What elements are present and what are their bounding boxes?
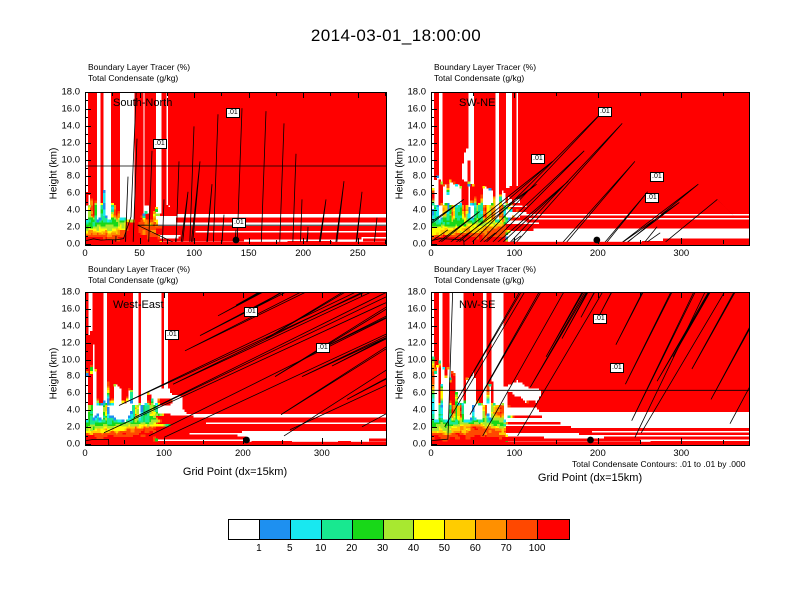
- colorbar-cell: [476, 520, 507, 539]
- x-tick-label: 200: [235, 448, 251, 459]
- x-tick-minor-top: [303, 92, 304, 96]
- y-tick-mark: [431, 176, 437, 177]
- y-tick-label: 2.0: [49, 422, 80, 433]
- x-tick-minor-top: [681, 92, 682, 96]
- y-tick-minor: [431, 317, 434, 318]
- y-tick-minor: [85, 202, 88, 203]
- x-tick-minor-top: [431, 292, 432, 296]
- y-tick-label: 14.0: [49, 320, 80, 331]
- y-tick-minor: [431, 300, 434, 301]
- header-line2: Total Condensate (g/kg): [88, 275, 190, 286]
- y-tick-mark: [431, 227, 437, 228]
- x-tick-minor: [124, 440, 125, 444]
- y-tick-label: 8.0: [395, 171, 426, 182]
- y-tick-minor: [85, 334, 88, 335]
- y-tick-minor: [431, 202, 434, 203]
- y-tick-label: 10.0: [395, 354, 426, 365]
- y-tick-mark: [431, 444, 437, 445]
- y-tick-mark: [85, 410, 91, 411]
- y-tick-minor: [431, 385, 434, 386]
- panel-title-2: SW-NE: [459, 97, 495, 109]
- header-line1: Boundary Layer Tracer (%): [88, 62, 190, 72]
- panel-header-3: Boundary Layer Tracer (%) Total Condensa…: [88, 264, 190, 285]
- x-tick-minor: [681, 440, 682, 444]
- x-tick-minor-top: [556, 292, 557, 296]
- x-tick-minor-top: [194, 92, 195, 96]
- tracer-field: [86, 293, 386, 445]
- x-tick-minor-top: [85, 92, 86, 96]
- header-line2: Total Condensate (g/kg): [88, 73, 190, 84]
- x-tick-minor-top: [681, 292, 682, 296]
- plot-area-3[interactable]: [85, 292, 387, 446]
- x-tick-label: 100: [506, 248, 522, 259]
- x-tick-minor-top: [203, 292, 204, 296]
- y-tick-label: 14.0: [395, 120, 426, 131]
- y-tick-label: 4.0: [49, 405, 80, 416]
- y-tick-label: 4.0: [49, 205, 80, 216]
- x-tick-minor-top: [243, 292, 244, 296]
- y-tick-label: 10.0: [395, 154, 426, 165]
- x-tick-minor: [330, 240, 331, 244]
- y-tick-label: 6.0: [49, 388, 80, 399]
- y-tick-mark: [85, 160, 91, 161]
- x-tick-minor: [385, 240, 386, 244]
- panel-header-4: Boundary Layer Tracer (%) Total Condensa…: [434, 264, 536, 285]
- y-tick-label: 16.0: [395, 103, 426, 114]
- contour-value-label: .01: [165, 330, 179, 340]
- x-tick-minor-top: [598, 292, 599, 296]
- colorbar-tick-label: 70: [501, 543, 512, 554]
- y-tick-minor: [431, 334, 434, 335]
- colorbar-tick-label: 60: [470, 543, 481, 554]
- y-tick-label: 8.0: [395, 371, 426, 382]
- panel-header-2: Boundary Layer Tracer (%) Total Condensa…: [434, 62, 536, 83]
- y-tick-mark: [431, 427, 437, 428]
- y-tick-label: 18.0: [395, 87, 426, 98]
- x-tick-minor-top: [164, 292, 165, 296]
- y-tick-minor: [431, 351, 434, 352]
- x-tick-minor: [431, 240, 432, 244]
- colorbar-cell: [445, 520, 476, 539]
- y-tick-minor: [431, 219, 434, 220]
- y-tick-mark: [85, 176, 91, 177]
- x-tick-minor-top: [85, 292, 86, 296]
- x-tick-minor: [164, 440, 165, 444]
- contour-value-label: .01: [316, 343, 330, 353]
- x-tick-minor: [514, 240, 515, 244]
- y-tick-label: 2.0: [395, 422, 426, 433]
- y-tick-minor: [85, 385, 88, 386]
- y-tick-label: 6.0: [395, 188, 426, 199]
- y-tick-minor: [85, 117, 88, 118]
- colorbar-tick-label: 40: [408, 543, 419, 554]
- y-tick-label: 12.0: [49, 137, 80, 148]
- x-tick-minor: [282, 440, 283, 444]
- y-tick-mark: [85, 393, 91, 394]
- y-tick-label: 14.0: [49, 120, 80, 131]
- x-tick-minor-top: [431, 92, 432, 96]
- y-tick-minor: [431, 419, 434, 420]
- y-tick-minor: [431, 134, 434, 135]
- x-tick-minor-top: [556, 92, 557, 96]
- tracer-field: [432, 293, 749, 445]
- header-line2: Total Condensate (g/kg): [434, 275, 536, 286]
- y-tick-minor: [431, 236, 434, 237]
- contour-value-label: .01: [593, 314, 607, 324]
- y-tick-mark: [85, 244, 91, 245]
- colorbar-cell: [291, 520, 322, 539]
- contour-note: Total Condensate Contours: .01 to .01 by…: [572, 459, 745, 469]
- y-tick-label: 12.0: [395, 337, 426, 348]
- y-tick-mark: [431, 326, 437, 327]
- panel-header-1: Boundary Layer Tracer (%) Total Condensa…: [88, 62, 190, 83]
- header-line1: Boundary Layer Tracer (%): [88, 264, 190, 274]
- x-tick-minor: [640, 440, 641, 444]
- y-tick-minor: [85, 185, 88, 186]
- x-tick-minor: [473, 440, 474, 444]
- y-tick-label: 8.0: [49, 371, 80, 382]
- y-tick-minor: [431, 168, 434, 169]
- y-tick-mark: [85, 376, 91, 377]
- y-tick-label: 12.0: [395, 137, 426, 148]
- y-tick-mark: [431, 393, 437, 394]
- tracer-field: [432, 93, 749, 245]
- y-tick-mark: [85, 227, 91, 228]
- y-tick-label: 12.0: [49, 337, 80, 348]
- x-tick-minor: [598, 240, 599, 244]
- x-tick-minor: [514, 440, 515, 444]
- header-line2: Total Condensate (g/kg): [434, 73, 536, 84]
- x-tick-label: 300: [314, 448, 330, 459]
- colorbar-cell: [229, 520, 260, 539]
- figure-root: 2014-03-01_18:00:00 Boundary Layer Trace…: [0, 0, 792, 612]
- y-tick-mark: [431, 343, 437, 344]
- colorbar-tick-label: 20: [346, 543, 357, 554]
- y-tick-minor: [85, 402, 88, 403]
- y-tick-minor: [431, 436, 434, 437]
- x-tick-minor-top: [282, 292, 283, 296]
- y-tick-label: 0.0: [49, 439, 80, 450]
- y-tick-label: 0.0: [49, 239, 80, 250]
- y-tick-mark: [85, 193, 91, 194]
- y-tick-label: 10.0: [49, 354, 80, 365]
- x-tick-minor-top: [473, 292, 474, 296]
- y-tick-mark: [85, 343, 91, 344]
- x-axis-label-3: Grid Point (dx=15km): [183, 466, 287, 478]
- x-tick-minor-top: [276, 92, 277, 96]
- y-tick-label: 6.0: [49, 188, 80, 199]
- y-tick-mark: [431, 309, 437, 310]
- x-tick-minor: [361, 440, 362, 444]
- y-tick-minor: [85, 236, 88, 237]
- y-tick-label: 2.0: [395, 222, 426, 233]
- y-tick-label: 8.0: [49, 171, 80, 182]
- colorbar-cell: [414, 520, 445, 539]
- y-tick-minor: [85, 219, 88, 220]
- colorbar-tick-label: 100: [529, 543, 546, 554]
- panel-title-4: NW-SE: [459, 299, 495, 311]
- x-tick-minor: [203, 440, 204, 444]
- contour-value-label: .01: [650, 172, 664, 182]
- x-tick-minor: [276, 240, 277, 244]
- y-tick-mark: [431, 193, 437, 194]
- x-tick-label: 150: [241, 248, 257, 259]
- contour-value-label: .01: [153, 139, 167, 149]
- x-tick-minor-top: [723, 292, 724, 296]
- x-tick-minor-top: [249, 92, 250, 96]
- x-tick-minor-top: [358, 92, 359, 96]
- x-tick-minor: [358, 240, 359, 244]
- y-tick-minor: [85, 436, 88, 437]
- y-tick-label: 4.0: [395, 205, 426, 216]
- y-tick-label: 0.0: [395, 239, 426, 250]
- x-tick-minor: [243, 440, 244, 444]
- contour-value-label: .01: [244, 307, 258, 317]
- x-tick-minor: [249, 240, 250, 244]
- y-tick-mark: [85, 210, 91, 211]
- y-tick-minor: [85, 419, 88, 420]
- y-tick-mark: [85, 444, 91, 445]
- x-tick-minor-top: [221, 92, 222, 96]
- y-tick-mark: [85, 126, 91, 127]
- x-tick-label: 100: [156, 448, 172, 459]
- colorbar-tick-label: 5: [287, 543, 293, 554]
- y-tick-minor: [85, 317, 88, 318]
- x-tick-minor: [598, 440, 599, 444]
- x-tick-minor: [194, 240, 195, 244]
- y-tick-mark: [85, 427, 91, 428]
- y-tick-minor: [431, 117, 434, 118]
- y-tick-minor: [431, 185, 434, 186]
- colorbar-cell: [322, 520, 353, 539]
- y-tick-mark: [431, 210, 437, 211]
- x-tick-minor: [221, 240, 222, 244]
- x-tick-label: 200: [295, 248, 311, 259]
- y-tick-mark: [431, 143, 437, 144]
- header-line1: Boundary Layer Tracer (%): [434, 264, 536, 274]
- y-tick-minor: [85, 351, 88, 352]
- panel-title-3: West-East: [113, 299, 164, 311]
- header-line1: Boundary Layer Tracer (%): [434, 62, 536, 72]
- colorbar-cell: [260, 520, 291, 539]
- y-tick-label: 4.0: [395, 405, 426, 416]
- x-tick-minor: [85, 440, 86, 444]
- x-tick-minor-top: [514, 292, 515, 296]
- y-tick-label: 0.0: [395, 439, 426, 450]
- y-tick-mark: [85, 109, 91, 110]
- colorbar-cell: [507, 520, 538, 539]
- y-tick-minor: [85, 168, 88, 169]
- x-tick-minor-top: [361, 292, 362, 296]
- x-tick-minor-top: [473, 92, 474, 96]
- contour-value-label: .01: [531, 154, 545, 164]
- y-tick-minor: [431, 402, 434, 403]
- figure-title: 2014-03-01_18:00:00: [0, 26, 792, 46]
- x-tick-label: 0: [82, 448, 87, 459]
- contour-value-label: .01: [226, 108, 240, 118]
- x-tick-minor-top: [598, 92, 599, 96]
- x-tick-minor: [85, 240, 86, 244]
- y-tick-label: 18.0: [49, 287, 80, 298]
- x-tick-minor: [112, 240, 113, 244]
- x-tick-label: 250: [350, 248, 366, 259]
- y-tick-label: 10.0: [49, 154, 80, 165]
- y-tick-mark: [431, 160, 437, 161]
- x-tick-minor: [681, 240, 682, 244]
- y-tick-label: 16.0: [395, 303, 426, 314]
- y-tick-mark: [431, 410, 437, 411]
- y-tick-mark: [431, 126, 437, 127]
- y-tick-minor: [85, 100, 88, 101]
- x-tick-minor: [303, 240, 304, 244]
- x-tick-label: 200: [590, 248, 606, 259]
- colorbar-tick-label: 10: [315, 543, 326, 554]
- colorbar-cell: [353, 520, 384, 539]
- colorbar-cell: [538, 520, 569, 539]
- x-tick-label: 0: [428, 448, 433, 459]
- x-tick-minor-top: [112, 92, 113, 96]
- y-tick-mark: [431, 244, 437, 245]
- x-tick-minor: [431, 440, 432, 444]
- colorbar-tick-label: 30: [377, 543, 388, 554]
- x-tick-label: 0: [428, 248, 433, 259]
- x-tick-label: 300: [673, 248, 689, 259]
- x-tick-label: 100: [186, 248, 202, 259]
- x-tick-minor-top: [322, 292, 323, 296]
- y-tick-mark: [431, 360, 437, 361]
- y-tick-label: 18.0: [395, 287, 426, 298]
- plot-area-2[interactable]: [431, 92, 750, 246]
- y-tick-label: 18.0: [49, 87, 80, 98]
- x-tick-minor-top: [385, 92, 386, 96]
- y-tick-mark: [431, 109, 437, 110]
- x-tick-minor-top: [640, 92, 641, 96]
- y-tick-minor: [431, 100, 434, 101]
- x-tick-minor: [473, 240, 474, 244]
- contour-value-label: .01: [610, 363, 624, 373]
- y-tick-label: 16.0: [49, 103, 80, 114]
- y-tick-label: 2.0: [49, 222, 80, 233]
- x-tick-minor-top: [723, 92, 724, 96]
- x-tick-label: 0: [82, 248, 87, 259]
- x-axis-label-4: Grid Point (dx=15km): [538, 472, 642, 484]
- x-tick-minor: [723, 240, 724, 244]
- contour-value-label: .01: [232, 218, 246, 228]
- y-tick-label: 6.0: [395, 388, 426, 399]
- panel-title-1: South-North: [113, 97, 172, 109]
- contour-value-label: .01: [598, 107, 612, 117]
- x-tick-minor-top: [140, 92, 141, 96]
- y-tick-minor: [85, 134, 88, 135]
- colorbar-tick-label: 50: [439, 543, 450, 554]
- plot-area-4[interactable]: [431, 292, 750, 446]
- x-tick-label: 100: [506, 448, 522, 459]
- colorbar-tick-label: 1: [256, 543, 262, 554]
- x-tick-minor: [640, 240, 641, 244]
- y-tick-minor: [431, 151, 434, 152]
- x-tick-minor: [140, 240, 141, 244]
- x-tick-minor-top: [167, 92, 168, 96]
- x-tick-label: 50: [134, 248, 145, 259]
- x-tick-minor-top: [514, 92, 515, 96]
- x-tick-minor: [167, 240, 168, 244]
- x-tick-minor: [556, 240, 557, 244]
- x-tick-minor: [723, 440, 724, 444]
- x-tick-minor-top: [124, 292, 125, 296]
- x-tick-minor: [322, 440, 323, 444]
- y-tick-label: 16.0: [49, 303, 80, 314]
- contour-value-label: .01: [645, 193, 659, 203]
- y-tick-minor: [85, 300, 88, 301]
- y-tick-label: 14.0: [395, 320, 426, 331]
- x-tick-label: 300: [673, 448, 689, 459]
- x-tick-minor-top: [330, 92, 331, 96]
- colorbar: [228, 519, 570, 540]
- x-tick-minor: [556, 440, 557, 444]
- y-tick-mark: [85, 326, 91, 327]
- colorbar-cell: [384, 520, 415, 539]
- y-tick-mark: [431, 376, 437, 377]
- x-tick-label: 200: [590, 448, 606, 459]
- y-tick-minor: [431, 368, 434, 369]
- y-tick-minor: [85, 368, 88, 369]
- y-tick-minor: [85, 151, 88, 152]
- y-tick-mark: [85, 309, 91, 310]
- x-tick-minor-top: [640, 292, 641, 296]
- y-tick-mark: [85, 360, 91, 361]
- y-tick-mark: [85, 143, 91, 144]
